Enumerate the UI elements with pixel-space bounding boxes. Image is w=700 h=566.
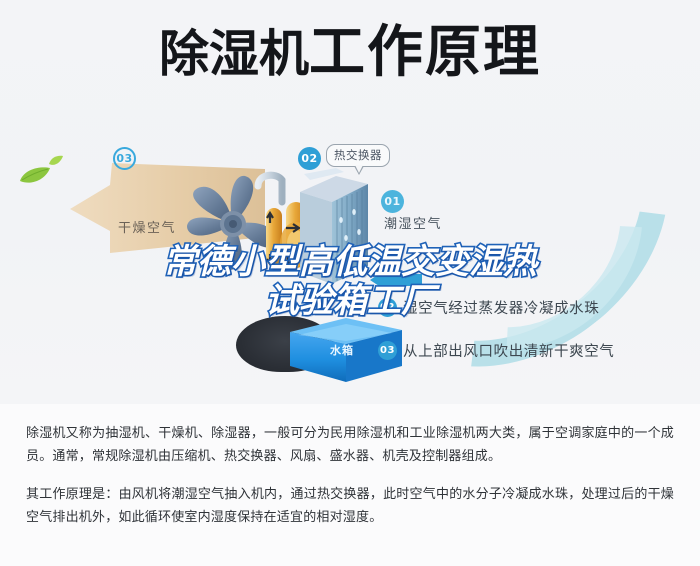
caption-badge-02: 02 [378,298,397,317]
badge-02: 02 [298,147,321,170]
article-paragraph-2: 其工作原理是：由风机将潮湿空气抽入机内，通过热交换器，此时空气中的水分子冷凝成水… [26,483,674,529]
dry-air-label: 干燥空气 [118,217,176,236]
article-paragraph-1: 除湿机又称为抽湿机、干燥机、除湿器，一般可分为民用除湿机和工业除湿机两大类，属于… [26,422,674,468]
leaf-icon-small [48,155,64,167]
caption-step-03: 03 从上部出风口吹出清新干爽空气 [378,340,614,361]
caption-text-03: 从上部出风口吹出清新干爽空气 [403,340,614,361]
illustration-banner: 除湿机工作原理 [0,0,700,404]
page-title: 除湿机工作原理 [0,22,700,85]
badge-01: 01 [381,190,404,213]
article-body: 除湿机又称为抽湿机、干燥机、除湿器，一般可分为民用除湿机和工业除湿机两大类，属于… [0,404,700,566]
caption-step-02: 02 湿空气经过蒸发器冷凝成水珠 [378,297,599,318]
badge-03: 03 [113,147,136,170]
page-root: 除湿机工作原理 [0,0,700,566]
caption-text-02: 湿空气经过蒸发器冷凝成水珠 [403,297,599,318]
leaf-icon [18,165,52,187]
caption-badge-03: 03 [378,341,397,360]
page-title-part2: 工作原理 [309,20,541,85]
inlet-arrow-icon [370,268,422,292]
heat-exchanger-callout: 热交换器 [326,144,390,167]
humid-air-label: 潮湿空气 [384,213,442,232]
page-title-part1: 除湿机 [159,25,309,83]
water-tank-label: 水箱 [330,342,354,358]
heat-exchanger-icon [296,168,380,288]
